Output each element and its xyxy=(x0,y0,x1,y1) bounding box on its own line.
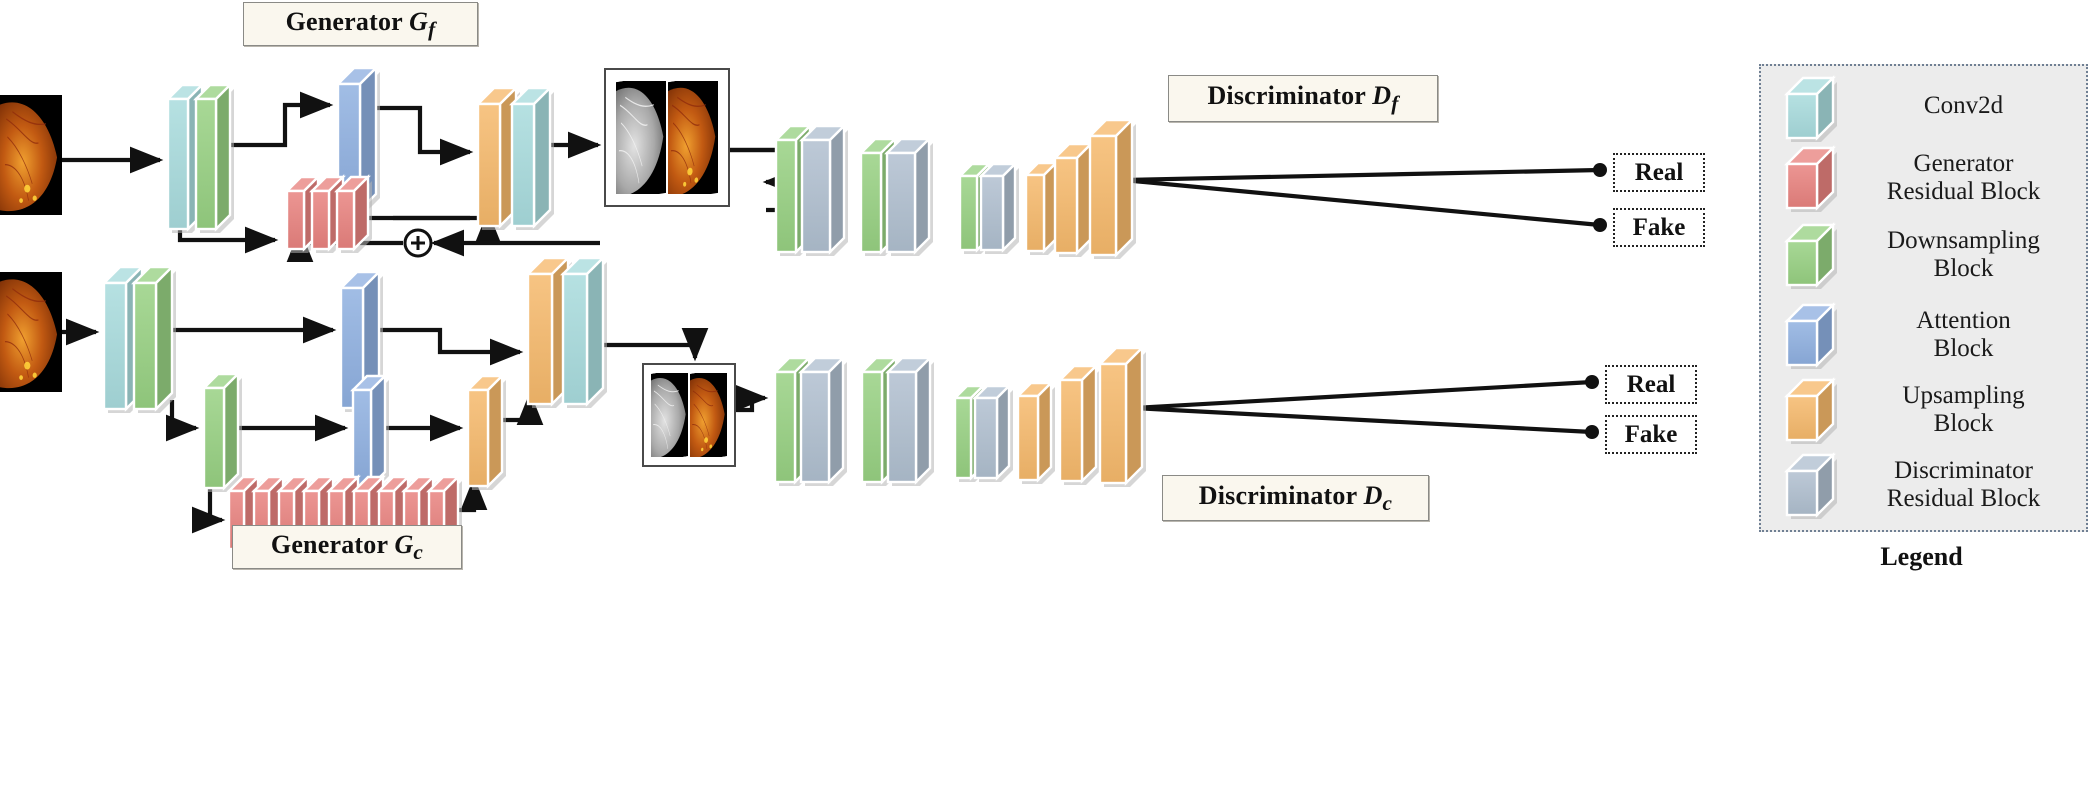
block-legend-upsampling xyxy=(1787,380,1837,444)
legend-upsampling-label: UpsamplingBlock xyxy=(1851,382,2076,438)
legend-downsampling-label: DownsamplingBlock xyxy=(1851,227,2076,283)
legend-icon-layer xyxy=(0,0,2099,802)
legend-caption: Legend xyxy=(1759,542,2084,572)
legend-generator-residual-label: GeneratorResidual Block xyxy=(1851,150,2076,206)
block-legend-generator-residual xyxy=(1787,148,1837,212)
block-legend-discriminator-residual xyxy=(1787,455,1837,519)
legend-conv2d-label: Conv2d xyxy=(1851,92,2076,120)
legend-discriminator-residual-label: DiscriminatorResidual Block xyxy=(1851,457,2076,513)
architecture-diagram: Generator GfDiscriminator DfGenerator Gc… xyxy=(0,0,2099,802)
legend-attention-label: AttentionBlock xyxy=(1851,307,2076,363)
block-legend-downsampling xyxy=(1787,225,1837,289)
block-legend-attention xyxy=(1787,305,1837,369)
block-legend-conv2d xyxy=(1787,78,1837,142)
